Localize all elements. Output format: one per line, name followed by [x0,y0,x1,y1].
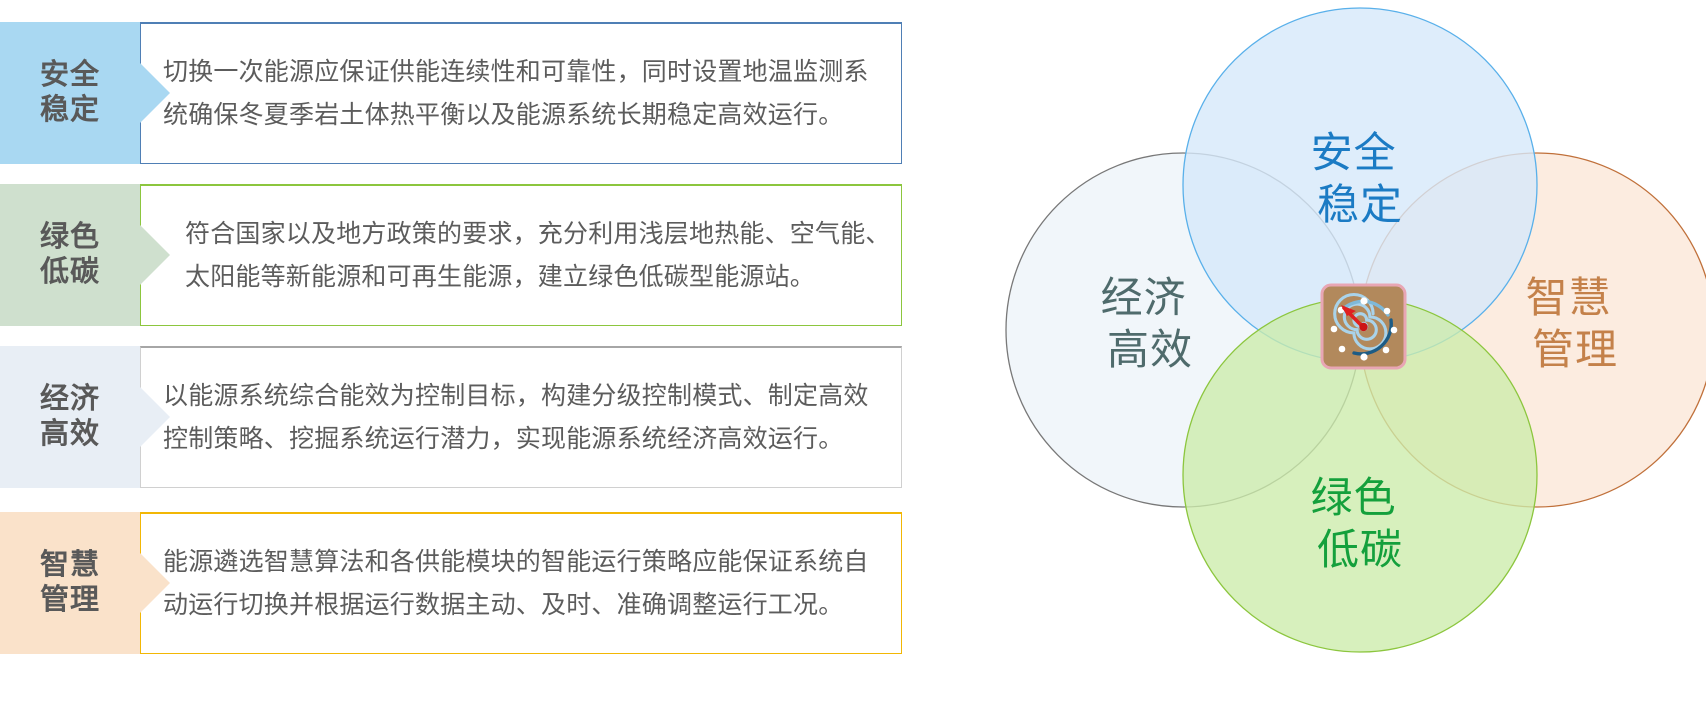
feature-tab-label-line1: 智慧 [40,548,100,583]
target-spiral-icon[interactable] [1322,285,1405,368]
feature-tab-label-line1: 绿色 [40,220,100,255]
feature-arrow-safety [140,63,170,123]
feature-block-safety[interactable]: 安全 稳定 切换一次能源应保证供能连续性和可靠性，同时设置地温监测系 统确保冬夏… [0,22,902,164]
feature-text-line2: 统确保冬夏季岩土体热平衡以及能源系统长期稳定高效运行。 [163,94,887,137]
feature-text-line2: 控制策略、挖掘系统运行潜力，实现能源系统经济高效运行。 [163,418,887,461]
target-dot [1331,326,1338,333]
target-dot [1360,297,1367,304]
feature-tab-label-line1: 安全 [40,58,100,93]
feature-body-smart: 能源遴选智慧算法和各供能模块的智能运行策略应能保证系统自 动运行切换并根据运行数… [140,512,902,654]
target-dot [1339,346,1346,353]
feature-arrow-green [140,225,170,285]
feature-tab-smart: 智慧 管理 [0,512,140,654]
feature-tab-economy: 经济 高效 [0,346,140,488]
feature-tab-label-line2: 管理 [40,583,100,618]
target-dot [1384,308,1391,315]
bullseye-center [1359,323,1367,331]
feature-text-line1: 能源遴选智慧算法和各供能模块的智能运行策略应能保证系统自 [163,541,887,584]
feature-text-line2: 动运行切换并根据运行数据主动、及时、准确调整运行工况。 [163,584,887,627]
feature-body-green: 符合国家以及地方政策的要求，充分利用浅层地热能、空气能、 太阳能等新能源和可再生… [140,184,902,326]
feature-body-economy: 以能源系统综合能效为控制目标，构建分级控制模式、制定高效 控制策略、挖掘系统运行… [140,346,902,488]
feature-tab-safety: 安全 稳定 [0,22,140,164]
target-dot [1391,327,1398,334]
feature-block-smart[interactable]: 智慧 管理 能源遴选智慧算法和各供能模块的智能运行策略应能保证系统自 动运行切换… [0,512,902,654]
feature-tab-label-line1: 经济 [40,382,100,417]
feature-block-economy[interactable]: 经济 高效 以能源系统综合能效为控制目标，构建分级控制模式、制定高效 控制策略、… [0,346,902,488]
feature-block-green[interactable]: 绿色 低碳 符合国家以及地方政策的要求，充分利用浅层地热能、空气能、 太阳能等新… [0,184,902,326]
feature-tab-label-line2: 稳定 [40,93,100,128]
feature-arrow-economy [140,387,170,447]
feature-text-line1: 切换一次能源应保证供能连续性和可靠性，同时设置地温监测系 [163,51,887,94]
target-dot [1383,347,1390,354]
feature-text-line1: 符合国家以及地方政策的要求，充分利用浅层地热能、空气能、 [163,213,887,256]
venn-diagram-panel: 安全 稳定 经济 高效 智慧 管理 绿色 低碳 [930,0,1706,718]
feature-text-line1: 以能源系统综合能效为控制目标，构建分级控制模式、制定高效 [163,375,887,418]
feature-tab-label-line2: 低碳 [40,255,100,290]
feature-list-panel: 安全 稳定 切换一次能源应保证供能连续性和可靠性，同时设置地温监测系 统确保冬夏… [0,0,930,718]
feature-text-line2: 太阳能等新能源和可再生能源，建立绿色低碳型能源站。 [163,256,887,299]
target-dot [1360,353,1367,360]
feature-arrow-smart [140,553,170,613]
venn-diagram: 安全 稳定 经济 高效 智慧 管理 绿色 低碳 [930,0,1706,718]
feature-tab-green: 绿色 低碳 [0,184,140,326]
feature-body-safety: 切换一次能源应保证供能连续性和可靠性，同时设置地温监测系 统确保冬夏季岩土体热平… [140,22,902,164]
feature-tab-label-line2: 高效 [40,417,100,452]
